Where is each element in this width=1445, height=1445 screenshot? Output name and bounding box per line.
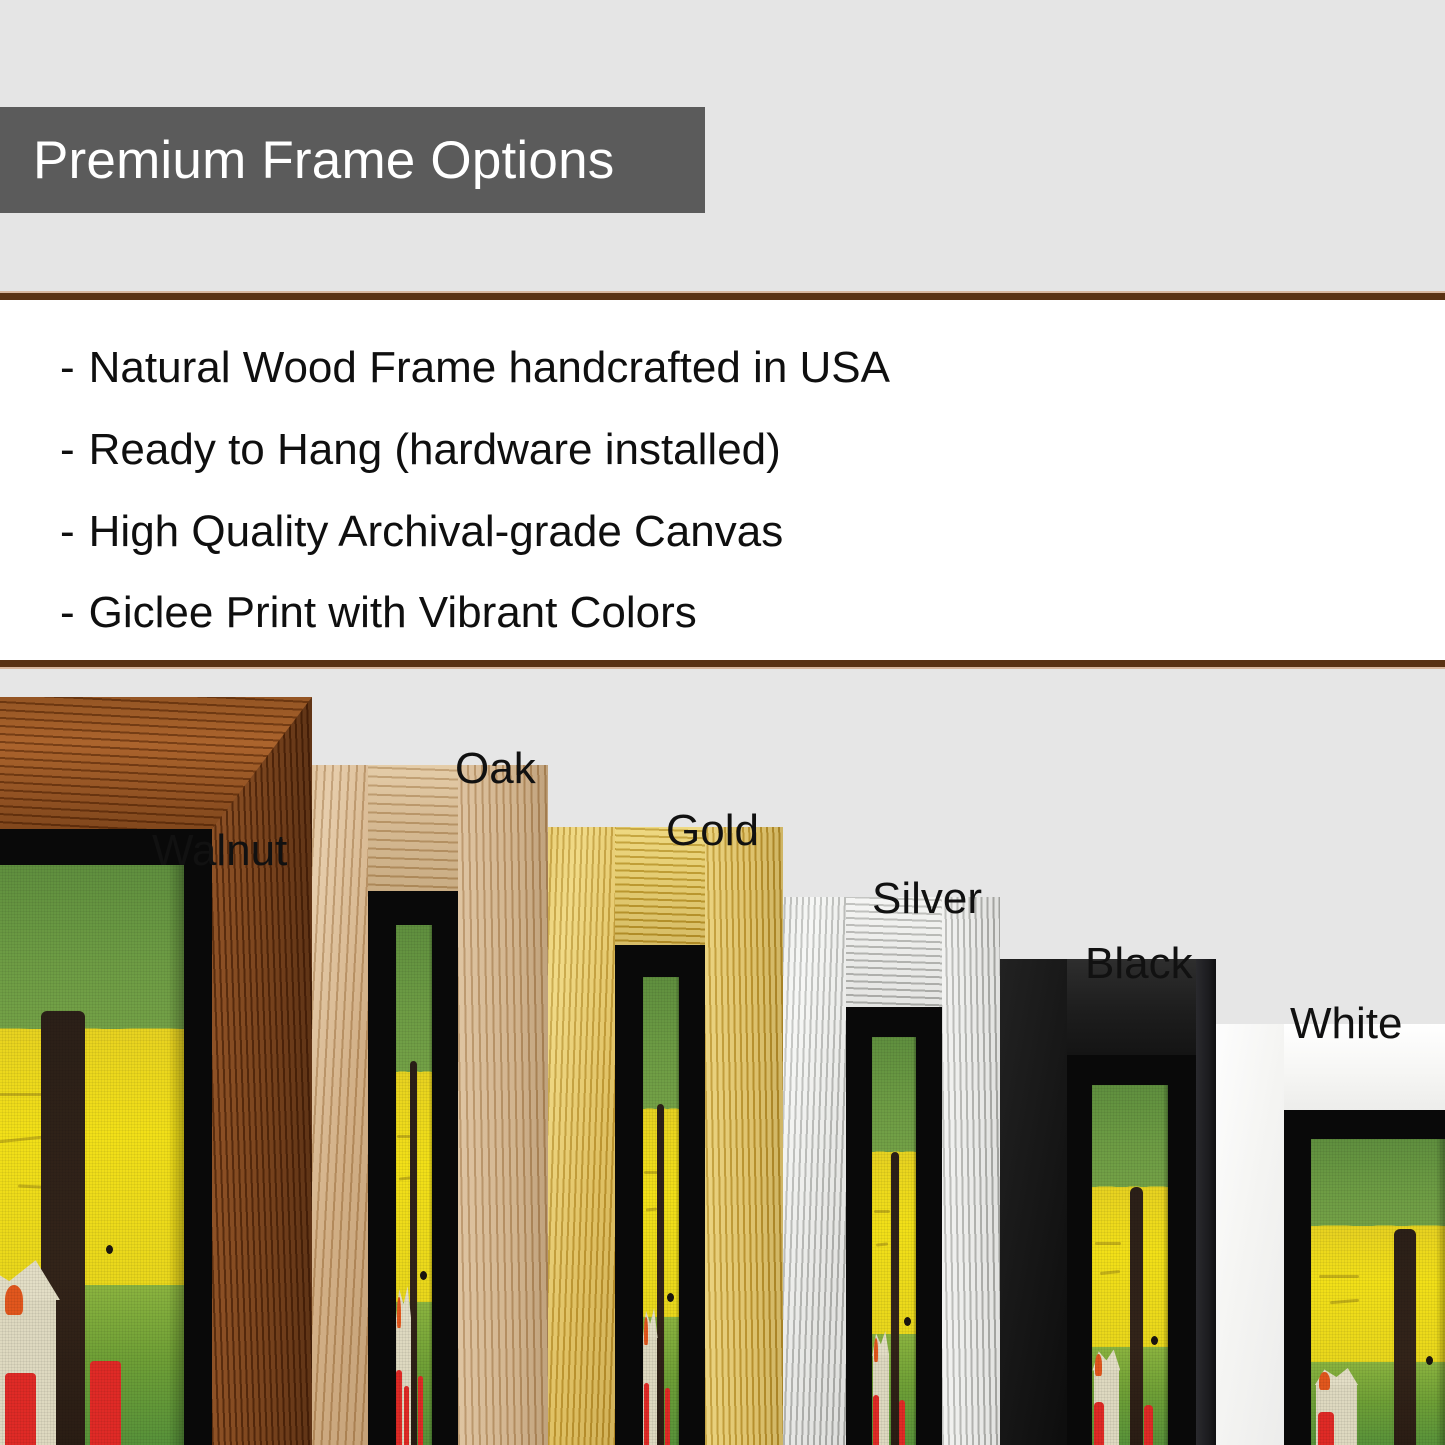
bullet-dash: -: [60, 507, 75, 556]
artwork-red-accent: [1094, 1402, 1104, 1445]
feature-label: Giclee Print with Vibrant Colors: [89, 588, 697, 637]
frame-left-rail: [1216, 1024, 1284, 1445]
bullet-dash: -: [60, 588, 75, 637]
frame-label-white: White: [1290, 1002, 1402, 1046]
artwork-tree-trunk: [657, 1104, 664, 1445]
feature-label: Natural Wood Frame handcrafted in USA: [89, 343, 890, 392]
frame-label-silver: Silver: [872, 877, 982, 921]
artwork-red-accent: [396, 1370, 401, 1445]
feature-item: -High Quality Archival-grade Canvas: [0, 510, 1445, 554]
artwork-stroke: [874, 1210, 890, 1213]
artwork-sky: [1092, 1085, 1168, 1191]
artwork-red-accent: [5, 1373, 36, 1445]
feature-item: -Ready to Hang (hardware installed): [0, 428, 1445, 472]
artwork-field: [1311, 1226, 1445, 1366]
artwork-red-accent: [418, 1376, 423, 1445]
artwork-tree-trunk: [410, 1061, 417, 1445]
artwork-red-accent: [404, 1386, 409, 1445]
artwork-canvas: [643, 977, 679, 1445]
frame-label-walnut: Walnut: [152, 829, 287, 873]
artwork-chimney: [397, 1297, 401, 1328]
frame-label-black: Black: [1085, 942, 1193, 986]
frame-label-gold: Gold: [666, 809, 759, 853]
artwork-red-accent: [899, 1400, 905, 1445]
feature-item: -Natural Wood Frame handcrafted in USA: [0, 346, 1445, 390]
divider-bottom: [0, 660, 1445, 669]
artwork-stroke: [644, 1171, 658, 1174]
artwork-red-accent: [644, 1383, 649, 1445]
artwork-chimney: [644, 1317, 648, 1345]
artwork-red-accent: [665, 1388, 670, 1445]
artwork-dot: [106, 1245, 113, 1254]
artwork-sky: [0, 865, 184, 1034]
artwork-field: [0, 1029, 184, 1292]
artwork-sky: [872, 1037, 916, 1156]
frame-white[interactable]: [1216, 1024, 1445, 1445]
frame-black[interactable]: [991, 959, 1216, 1445]
divider-top: [0, 291, 1445, 300]
frame-right-rail: [1196, 959, 1216, 1445]
features-panel: -Natural Wood Frame handcrafted in USA -…: [0, 300, 1445, 660]
frame-right-rail: [458, 765, 548, 1445]
feature-label: Ready to Hang (hardware installed): [89, 425, 781, 474]
artwork-sky: [396, 925, 432, 1077]
frame-walnut[interactable]: [0, 697, 312, 1445]
artwork-red-accent: [873, 1395, 879, 1445]
bullet-dash: -: [60, 343, 75, 392]
frame-right-rail: [705, 827, 783, 1445]
artwork-red-accent: [1144, 1405, 1153, 1445]
artwork-chimney: [5, 1285, 23, 1314]
artwork-chimney: [1319, 1372, 1330, 1391]
frame-right-rail: [942, 897, 1000, 1445]
frame-gold[interactable]: [521, 827, 783, 1445]
title-plate: Premium Frame Options: [0, 107, 705, 213]
artwork-red-accent: [90, 1361, 121, 1445]
artwork-red-accent: [1318, 1412, 1334, 1445]
divider-hairline: [0, 291, 1445, 293]
artwork-tree-trunk: [1130, 1187, 1143, 1445]
frame-label-oak: Oak: [455, 747, 536, 791]
feature-label: High Quality Archival-grade Canvas: [89, 507, 784, 556]
artwork-stroke: [398, 1176, 410, 1180]
bullet-dash: -: [60, 425, 75, 474]
artwork-stroke: [1319, 1275, 1359, 1278]
artwork-dot: [904, 1317, 911, 1326]
frame-left-rail: [991, 959, 1067, 1445]
frame-silver[interactable]: [760, 897, 1000, 1445]
artwork-tree-trunk: [891, 1152, 899, 1445]
artwork-chimney: [1095, 1354, 1102, 1376]
artwork-canvas: [1092, 1085, 1168, 1445]
artwork-sky: [643, 977, 679, 1114]
artwork-canvas: [1311, 1139, 1445, 1445]
artwork-stroke: [1095, 1242, 1121, 1245]
feature-item: -Giclee Print with Vibrant Colors: [0, 591, 1445, 635]
artwork-canvas: [0, 865, 184, 1445]
artwork-tree-trunk: [1394, 1229, 1415, 1445]
artwork-canvas: [872, 1037, 916, 1445]
artwork-dot: [420, 1271, 427, 1280]
frame-showcase: White Black: [0, 669, 1445, 1445]
page-title: Premium Frame Options: [0, 134, 614, 187]
frame-right-rail: [212, 697, 312, 1445]
artwork-canvas: [396, 925, 432, 1445]
header-band: Premium Frame Options: [0, 0, 1445, 295]
